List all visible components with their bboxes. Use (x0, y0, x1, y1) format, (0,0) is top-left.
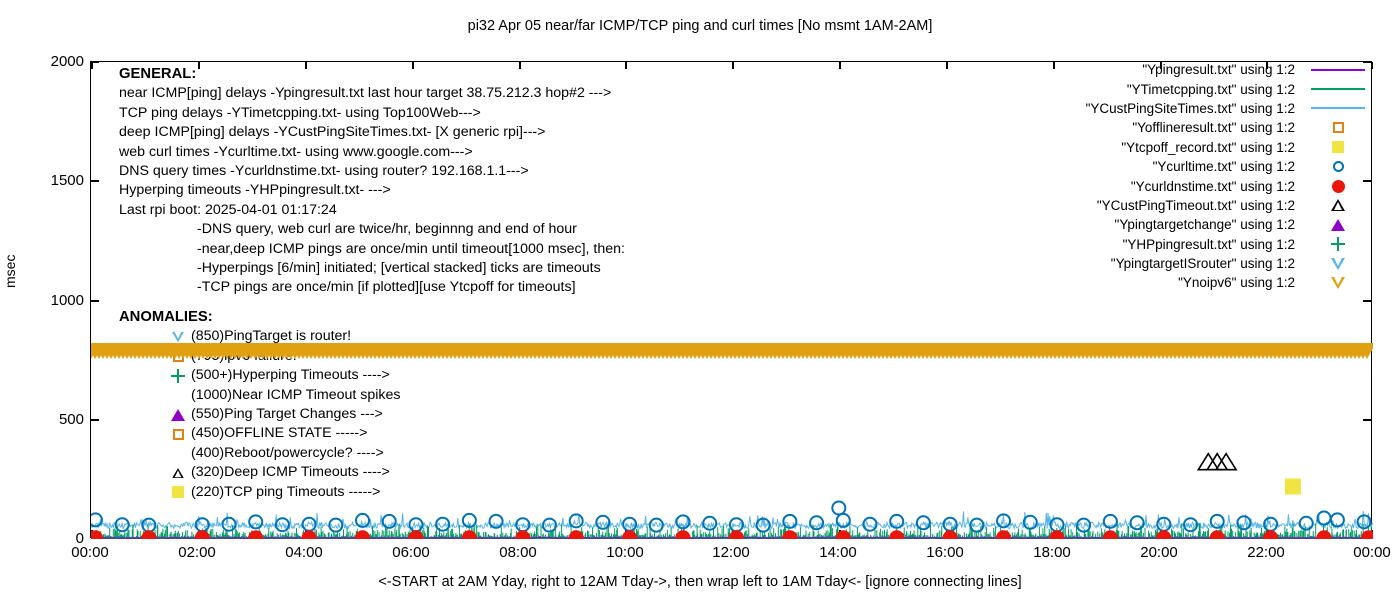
y-tick-2000: 2000 (18, 54, 84, 69)
x-tick-12: 00:00 (1353, 545, 1391, 560)
legend-label: "Ytcpoff_record.txt" using 1:2 (1121, 140, 1301, 155)
series-ycustpingtimeout-points (1198, 454, 1236, 470)
chart-screenshot: pi32 Apr 05 near/far ICMP/TCP ping and c… (0, 0, 1400, 600)
legend-label: "YCustPingTimeout.txt" using 1:2 (1097, 198, 1301, 213)
y-tick-500: 500 (18, 412, 84, 427)
filled-triangle-up-icon (1301, 219, 1375, 231)
chart-title: pi32 Apr 05 near/far ICMP/TCP ping and c… (0, 18, 1400, 34)
legend-item-ycustpingtimeout[interactable]: "YCustPingTimeout.txt" using 1:2 (960, 196, 1375, 215)
legend-item-yofflineresult[interactable]: "Yofflineresult.txt" using 1:2 (960, 118, 1375, 137)
legend-item-ytcpoff-record[interactable]: "Ytcpoff_record.txt" using 1:2 (960, 138, 1375, 157)
legend-key-line (1301, 69, 1375, 71)
x-axis-label: <-START at 2AM Yday, right to 12AM Tday-… (0, 574, 1400, 590)
legend-label: "YCustPingSiteTimes.txt" using 1:2 (1086, 101, 1301, 116)
legend-item-ycurltime[interactable]: "Ycurltime.txt" using 1:2 (960, 157, 1375, 176)
legend-label: "Ypingtargetchange" using 1:2 (1115, 217, 1301, 232)
legend-label: "Yofflineresult.txt" using 1:2 (1132, 120, 1301, 135)
series-ytcpoff-points (1285, 479, 1301, 495)
filled-square-icon (1301, 141, 1375, 153)
open-circle-icon (1301, 161, 1375, 172)
x-tick-6: 12:00 (712, 545, 750, 560)
x-tick-1: 02:00 (178, 545, 216, 560)
legend-item-ypingtargetisrouter[interactable]: "YpingtargetISrouter" using 1:2 (960, 254, 1375, 273)
legend-label: "Ycurldnstime.txt" using 1:2 (1131, 179, 1301, 194)
legend-item-ypingtargetchange[interactable]: "Ypingtargetchange" using 1:2 (960, 215, 1375, 234)
open-square-icon (1301, 122, 1375, 133)
open-triangle-down-blue-icon (1301, 258, 1375, 270)
series-ycurltime-points (91, 501, 1371, 531)
legend-item-ytimetcpping[interactable]: "YTimetcpping.txt" using 1:2 (960, 79, 1375, 98)
x-tick-3: 06:00 (392, 545, 430, 560)
x-tick-10: 20:00 (1140, 545, 1178, 560)
y-tick-1000: 1000 (18, 293, 84, 308)
legend-item-ynoipv6[interactable]: "Ynoipv6" using 1:2 (960, 273, 1375, 292)
x-tick-7: 14:00 (819, 545, 857, 560)
legend-key-line (1301, 107, 1375, 109)
open-triangle-up-icon (1301, 199, 1375, 211)
filled-circle-icon (1301, 180, 1375, 193)
legend-item-ypingresult[interactable]: "Ypingresult.txt" using 1:2 (960, 60, 1375, 79)
legend: "Ypingresult.txt" using 1:2 "YTimetcppin… (960, 60, 1375, 293)
legend-label: "Ypingresult.txt" using 1:2 (1142, 62, 1301, 77)
legend-item-yhppingresult[interactable]: "YHPpingresult.txt" using 1:2 (960, 235, 1375, 254)
legend-label: "YpingtargetISrouter" using 1:2 (1111, 256, 1301, 271)
legend-item-ycurldnstime[interactable]: "Ycurldnstime.txt" using 1:2 (960, 176, 1375, 195)
x-tick-5: 10:00 (606, 545, 644, 560)
open-triangle-down-orange-icon (1301, 277, 1375, 289)
x-tick-4: 08:00 (499, 545, 537, 560)
legend-label: "Ycurltime.txt" using 1:2 (1153, 159, 1301, 174)
x-tick-2: 04:00 (285, 545, 323, 560)
plus-icon (1301, 237, 1375, 251)
y-axis-tick-labels: 2000 1500 1000 500 0 (0, 0, 84, 600)
legend-key-line (1301, 88, 1375, 90)
x-tick-9: 18:00 (1033, 545, 1071, 560)
y-tick-1500: 1500 (18, 173, 84, 188)
legend-label: "Ynoipv6" using 1:2 (1178, 275, 1301, 290)
legend-item-ycustpingsitetimes[interactable]: "YCustPingSiteTimes.txt" using 1:2 (960, 99, 1375, 118)
legend-label: "YTimetcpping.txt" using 1:2 (1127, 82, 1301, 97)
x-tick-11: 22:00 (1247, 545, 1285, 560)
x-tick-8: 16:00 (926, 545, 964, 560)
x-tick-0: 00:00 (71, 545, 109, 560)
legend-label: "YHPpingresult.txt" using 1:2 (1123, 237, 1301, 252)
